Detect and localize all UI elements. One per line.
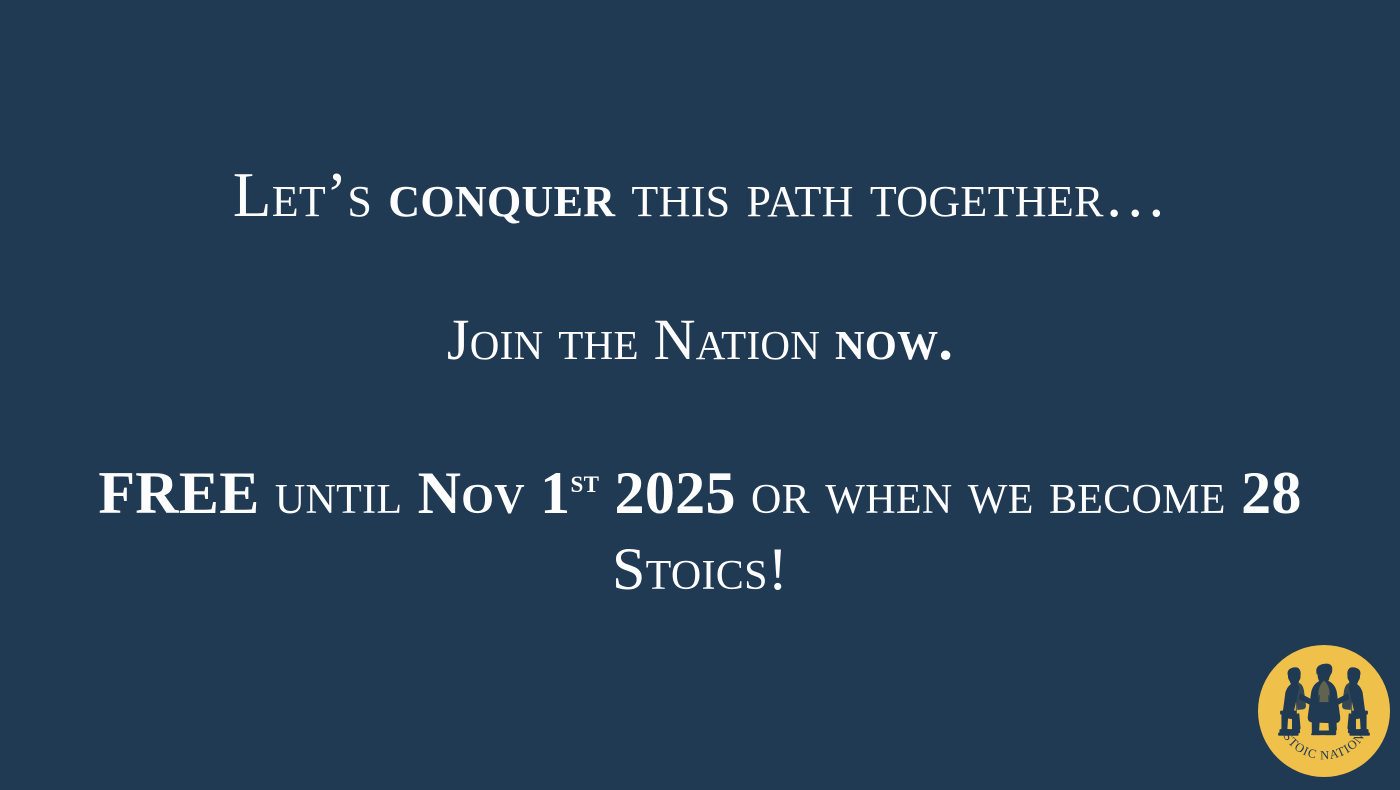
offer-deadline-year: 2025	[599, 460, 736, 526]
offer-stoics-label: Stoics!	[612, 536, 788, 602]
headline-line-1-part-a: Let’s	[233, 160, 388, 230]
offer-deadline-month: Nov 1	[418, 460, 571, 526]
headline-line-1-part-b: this path together…	[615, 160, 1167, 230]
stoic-nation-seal-icon: STOIC NATION	[1258, 645, 1390, 777]
offer-until-label: until	[260, 460, 418, 526]
headline-line-3: FREE until Nov 1st 2025 or when we becom…	[60, 455, 1340, 607]
headline-line-2-emphasis: now.	[835, 307, 953, 372]
headline-line-1: Let’s conquer this path together…	[0, 163, 1400, 227]
headline-line-2: Join the Nation now.	[0, 310, 1400, 369]
stoic-nation-logo: STOIC NATION	[1258, 645, 1390, 777]
offer-deadline-ordinal: st	[570, 464, 599, 500]
headline-line-1-emphasis: conquer	[388, 160, 615, 230]
offer-member-count: 28	[1241, 460, 1302, 526]
headline-line-2-part-a: Join the Nation	[447, 307, 835, 372]
offer-free-label: FREE	[98, 460, 259, 526]
promo-slide: Let’s conquer this path together… Join t…	[0, 0, 1400, 790]
offer-condition-text: or when we become	[736, 460, 1241, 526]
